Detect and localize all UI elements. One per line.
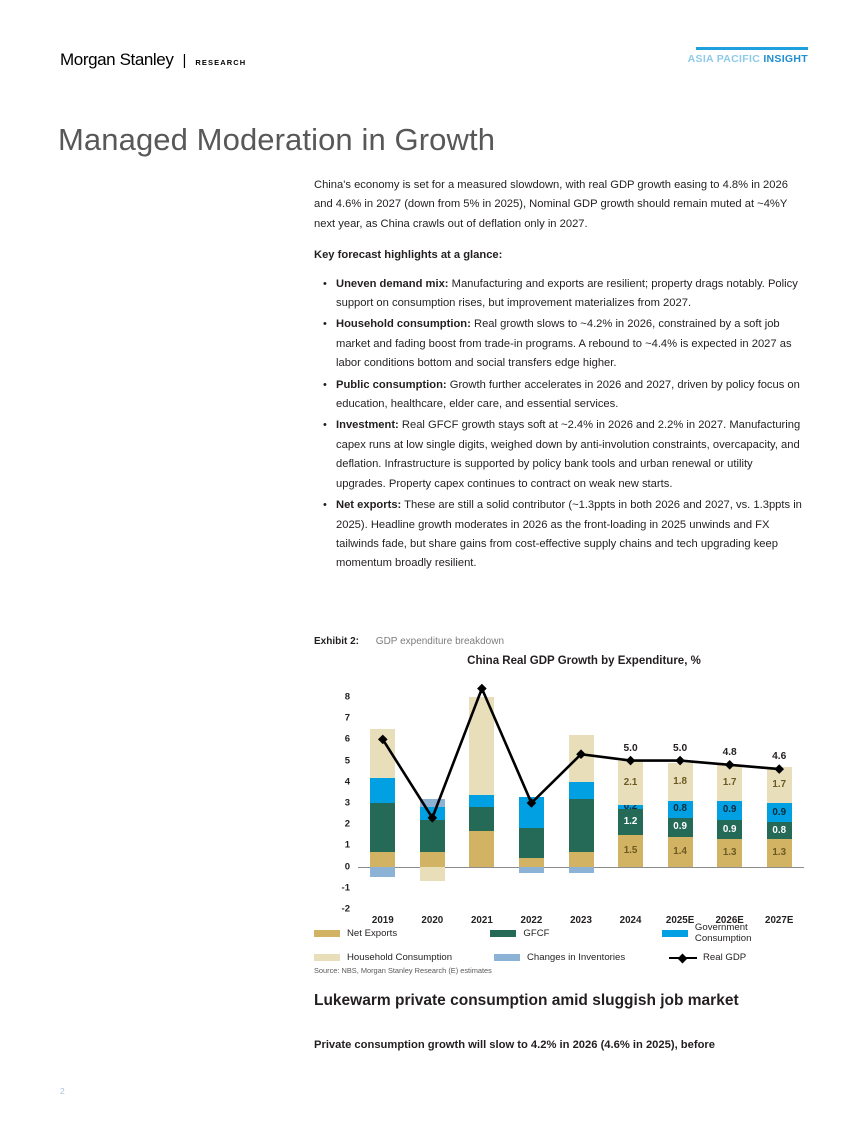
chart-title: China Real GDP Growth by Expenditure, % (314, 655, 804, 667)
real-gdp-line-series (358, 697, 804, 909)
legend-item-government-consumption: Government Consumption (662, 922, 804, 944)
real-gdp-marker (675, 756, 685, 766)
exhibit-2: Exhibit 2: GDP expenditure breakdown Chi… (314, 636, 804, 943)
real-gdp-marker (774, 764, 784, 774)
brand-name: Morgan Stanley (60, 50, 173, 70)
article-body: China's economy is set for a measured sl… (314, 176, 803, 576)
list-item: Net exports: These are still a solid con… (336, 496, 803, 574)
list-item: Public consumption: Growth further accel… (336, 376, 803, 415)
bullet-text: Real GFCF growth stays soft at ~2.4% in … (336, 419, 800, 489)
insight-text: ASIA PACIFIC INSIGHT (688, 53, 808, 65)
y-axis-tick-label: 7 (345, 713, 350, 724)
page-header: Morgan Stanley | RESEARCH ASIA PACIFIC I… (0, 0, 866, 100)
y-axis-tick-label: -1 (342, 882, 350, 893)
bullet-text: These are still a solid contributor (~1.… (336, 499, 802, 569)
y-axis-tick-label: 3 (345, 798, 350, 809)
exhibit-header: Exhibit 2: GDP expenditure breakdown (314, 636, 804, 647)
page-title: Managed Moderation in Growth (58, 122, 495, 158)
legend-label: Government Consumption (695, 922, 804, 944)
bullet-term: Household consumption: (336, 318, 471, 330)
list-item: Household consumption: Real growth slows… (336, 315, 803, 373)
bullet-term: Uneven demand mix: (336, 278, 449, 290)
real-gdp-marker (725, 760, 735, 770)
exhibit-label: Exhibit 2: (314, 636, 359, 647)
bullet-term: Public consumption: (336, 379, 447, 391)
legend-item-changes-in-inventories: Changes in Inventories (494, 952, 669, 963)
brand-subtitle: RESEARCH (195, 58, 246, 67)
legend-label: GFCF (523, 928, 549, 939)
brand-divider: | (182, 52, 186, 69)
legend-item-real-gdp: Real GDP (669, 952, 746, 963)
asia-pacific-insight-mark: ASIA PACIFIC INSIGHT (688, 47, 808, 65)
bullet-term: Investment: (336, 419, 399, 431)
highlights-list: Uneven demand mix: Manufacturing and exp… (314, 275, 803, 574)
real-gdp-marker (477, 684, 487, 694)
exhibit-title: GDP expenditure breakdown (376, 636, 504, 647)
legend-swatch-icon (314, 954, 340, 961)
intro-paragraph: China's economy is set for a measured sl… (314, 176, 803, 234)
legend-swatch-icon (662, 930, 688, 937)
legend-swatch-icon (490, 930, 516, 937)
real-gdp-marker (626, 756, 636, 766)
legend-item-gfcf: GFCF (490, 922, 662, 944)
y-axis-tick-label: 8 (345, 692, 350, 703)
page-number: 2 (60, 1086, 65, 1096)
legend-label: Real GDP (703, 952, 746, 963)
legend-item-net-exports: Net Exports (314, 922, 490, 944)
legend-item-household-consumption: Household Consumption (314, 952, 494, 963)
y-axis-tick-label: 6 (345, 734, 350, 745)
y-axis-tick-label: 1 (345, 840, 350, 851)
y-axis-tick-label: 0 (345, 861, 350, 872)
y-axis-tick-label: 4 (345, 776, 350, 787)
legend-row: Net Exports GFCF Government Consumption (314, 922, 804, 944)
insight-secondary-text: INSIGHT (763, 53, 808, 65)
y-axis-tick-label: 2 (345, 819, 350, 830)
legend-swatch-icon (314, 930, 340, 937)
trailing-paragraph: Private consumption growth will slow to … (314, 1036, 809, 1055)
y-axis: 876543210-1-2 (314, 697, 354, 909)
list-item: Uneven demand mix: Manufacturing and exp… (336, 275, 803, 314)
section-heading: Lukewarm private consumption amid sluggi… (314, 992, 809, 1010)
brand-lockup: Morgan Stanley | RESEARCH (60, 50, 246, 70)
insight-primary-text: ASIA PACIFIC (688, 53, 760, 65)
legend-row: Household Consumption Changes in Invento… (314, 952, 804, 963)
legend-line-marker-icon (669, 953, 697, 962)
gdp-expenditure-chart: China Real GDP Growth by Expenditure, % … (314, 653, 804, 943)
y-axis-tick-label: -2 (342, 904, 350, 915)
legend-label: Net Exports (347, 928, 397, 939)
bullet-term: Net exports: (336, 499, 401, 511)
chart-legend: Net Exports GFCF Government Consumption … (314, 922, 804, 971)
lead-in-heading: Key forecast highlights at a glance: (314, 246, 803, 265)
legend-label: Changes in Inventories (527, 952, 625, 963)
list-item: Investment: Real GFCF growth stays soft … (336, 416, 803, 494)
legend-swatch-icon (494, 954, 520, 961)
y-axis-tick-label: 5 (345, 755, 350, 766)
insight-accent-bar (696, 47, 808, 50)
exhibit-source: Source: NBS, Morgan Stanley Research (E)… (314, 966, 492, 975)
legend-label: Household Consumption (347, 952, 452, 963)
